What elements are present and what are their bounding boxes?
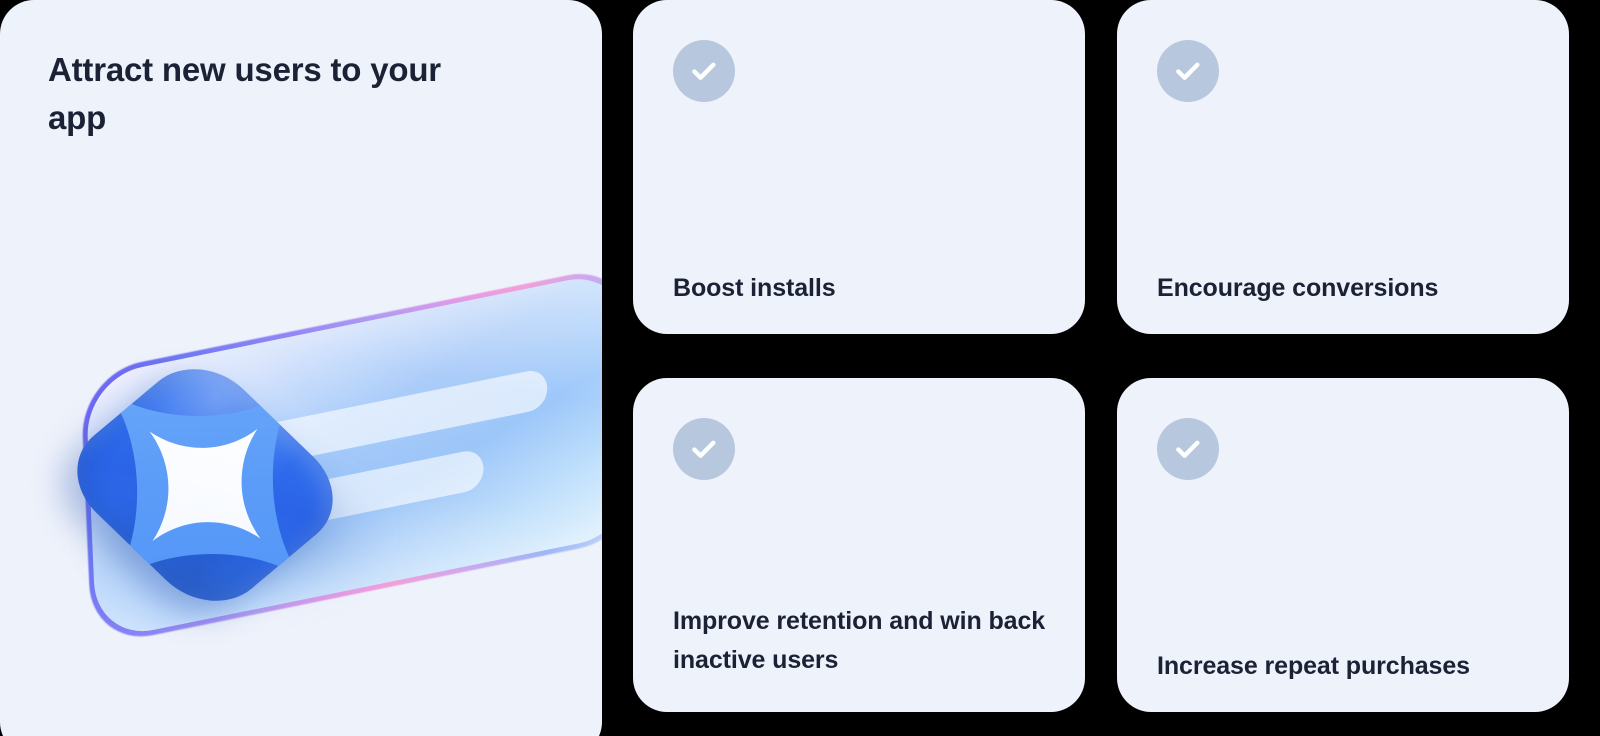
hero-card[interactable]: Attract new users to your app [0, 0, 602, 736]
page-title: Attract new users to your app [48, 46, 478, 142]
check-circle-icon [1157, 418, 1219, 480]
feature-card-label: Improve retention and win back inactive … [673, 602, 1051, 680]
feature-card-improve-retention[interactable]: Improve retention and win back inactive … [633, 378, 1085, 712]
check-circle-icon [673, 418, 735, 480]
feature-card-label: Increase repeat purchases [1157, 647, 1535, 686]
feature-card-label: Encourage conversions [1157, 269, 1535, 308]
check-circle-icon [673, 40, 735, 102]
cards-board: Attract new users to your app [0, 0, 1600, 736]
feature-card-encourage-conversions[interactable]: Encourage conversions [1117, 0, 1569, 334]
app-sparkle-3d-illustration [0, 356, 602, 676]
feature-card-increase-repeat-purchases[interactable]: Increase repeat purchases [1117, 378, 1569, 712]
check-circle-icon [1157, 40, 1219, 102]
feature-card-boost-installs[interactable]: Boost installs [633, 0, 1085, 334]
feature-card-label: Boost installs [673, 269, 1051, 308]
